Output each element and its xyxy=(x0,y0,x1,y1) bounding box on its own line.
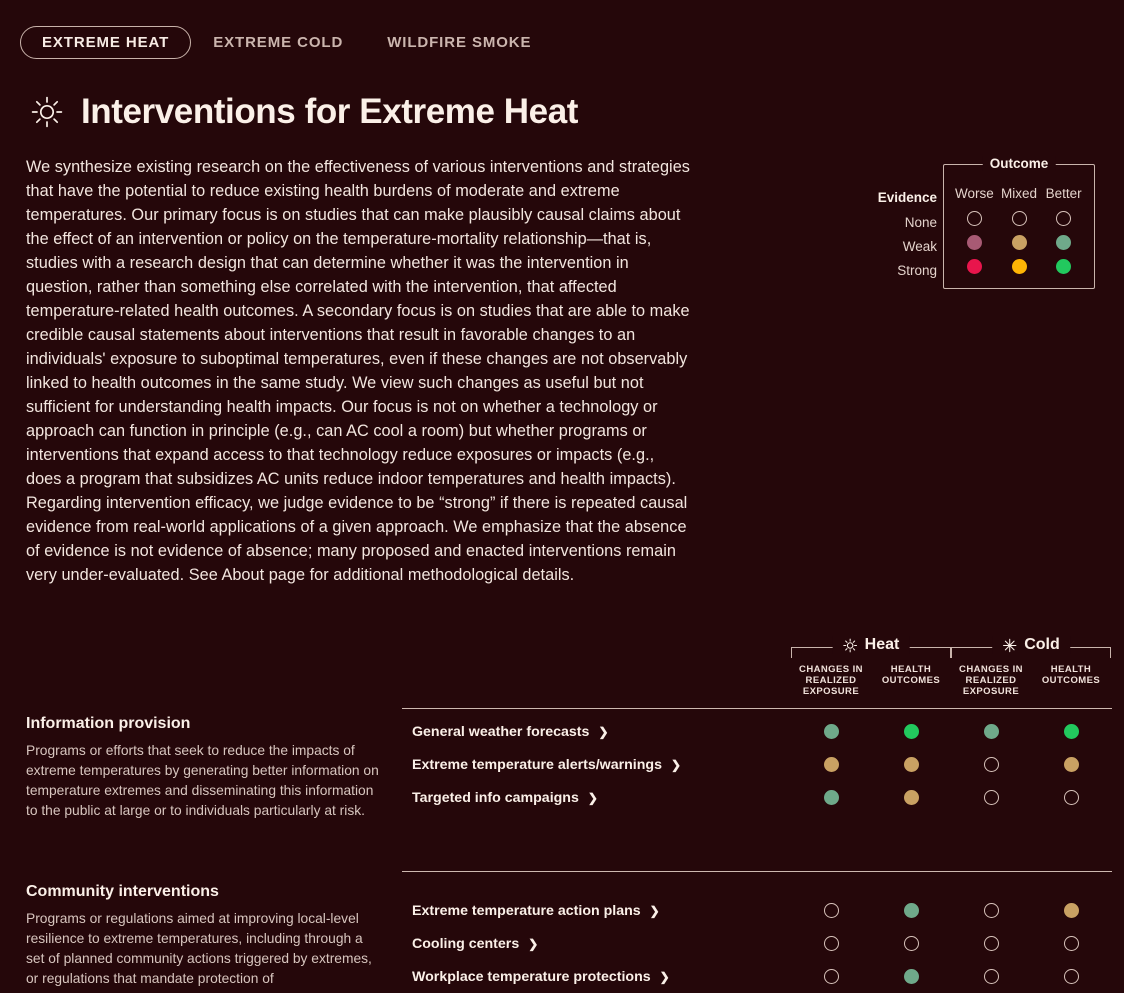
row-label-cooling-centers[interactable]: Cooling centers ❯ xyxy=(412,936,538,952)
status-dot xyxy=(1064,936,1079,951)
cell-heat-exposure[interactable] xyxy=(791,969,871,984)
row-label-text: General weather forecasts xyxy=(412,724,589,740)
legend-row-strong xyxy=(952,254,1086,278)
cell-cold-exposure[interactable] xyxy=(951,724,1031,739)
row-cells xyxy=(791,724,1111,739)
row-cells xyxy=(791,969,1111,984)
status-dot xyxy=(984,903,999,918)
cell-heat-health[interactable] xyxy=(871,936,951,951)
chevron-right-icon: ❯ xyxy=(528,938,538,950)
status-dot xyxy=(1056,211,1071,226)
legend-outcome-axis: Worse Mixed Better xyxy=(952,165,1086,206)
matrix-header-divider xyxy=(402,708,1112,709)
legend-swatch-cell xyxy=(1041,235,1086,250)
cell-heat-exposure[interactable] xyxy=(791,724,871,739)
legend-evidence-axis: Evidence None Weak Strong xyxy=(869,164,937,283)
row-label-text: Workplace temperature protections xyxy=(412,969,651,985)
table-row[interactable]: Cooling centers ❯ xyxy=(402,927,1112,960)
status-dot xyxy=(1012,235,1027,250)
legend-swatch-cell xyxy=(997,211,1042,226)
status-dot xyxy=(904,757,919,772)
legend-outcome-better: Better xyxy=(1041,182,1086,206)
sun-icon xyxy=(30,95,64,129)
row-label-text: Extreme temperature alerts/warnings xyxy=(412,757,662,773)
status-dot xyxy=(824,903,839,918)
cell-cold-health[interactable] xyxy=(1031,724,1111,739)
legend-swatch-cell xyxy=(997,259,1042,274)
group-bracket: Heat xyxy=(791,636,951,658)
status-dot xyxy=(904,724,919,739)
table-row[interactable]: Extreme temperature alerts/warnings ❯ xyxy=(402,748,1112,781)
primary-nav: EXTREME HEAT EXTREME COLD WILDFIRE SMOKE xyxy=(20,26,553,59)
row-label-extreme-temperature-action-plans[interactable]: Extreme temperature action plans ❯ xyxy=(412,903,660,919)
table-row[interactable]: Extreme temperature action plans ❯ xyxy=(402,894,1112,927)
section-community-interventions: Community interventions Programs or regu… xyxy=(0,883,1124,982)
column-header-cold-health: HEALTH OUTCOMES xyxy=(1031,664,1111,697)
legend-row-none xyxy=(952,206,1086,230)
interventions-matrix: Heat CHANGES IN REALIZED EXPOSURE HEALTH… xyxy=(0,630,1124,696)
row-cells xyxy=(791,936,1111,951)
group-columns: CHANGES IN REALIZED EXPOSURE HEALTH OUTC… xyxy=(791,664,951,697)
section-title: Information provision xyxy=(26,715,381,733)
status-dot xyxy=(824,790,839,805)
chevron-right-icon: ❯ xyxy=(588,792,598,804)
status-dot xyxy=(824,969,839,984)
column-header-heat-health: HEALTH OUTCOMES xyxy=(871,664,951,697)
status-dot xyxy=(984,724,999,739)
status-dot xyxy=(824,724,839,739)
chevron-right-icon: ❯ xyxy=(598,726,608,738)
row-label-targeted-info-campaigns[interactable]: Targeted info campaigns ❯ xyxy=(412,790,598,806)
cell-heat-exposure[interactable] xyxy=(791,936,871,951)
intro-paragraph: We synthesize existing research on the e… xyxy=(26,155,691,587)
row-cells xyxy=(791,903,1111,918)
section-rows: Extreme temperature action plans ❯ Cooli… xyxy=(402,894,1112,993)
row-cells xyxy=(791,757,1111,772)
page-header: Interventions for Extreme Heat xyxy=(30,92,578,132)
status-dot xyxy=(904,969,919,984)
cell-cold-health[interactable] xyxy=(1031,757,1111,772)
group-label: Cold xyxy=(1024,636,1060,654)
bracket-end-right xyxy=(1110,647,1111,658)
status-dot xyxy=(1012,211,1027,226)
matrix-group-cold: Cold CHANGES IN REALIZED EXPOSURE HEALTH… xyxy=(951,636,1111,697)
status-dot xyxy=(984,790,999,805)
group-name-heat: Heat xyxy=(833,636,910,654)
bracket-end-left xyxy=(791,647,792,658)
legend-outcome-box: Outcome Worse Mixed Better xyxy=(943,164,1095,289)
row-cells xyxy=(791,790,1111,805)
matrix-group-headers: Heat CHANGES IN REALIZED EXPOSURE HEALTH… xyxy=(0,630,1124,696)
legend-swatch-cell xyxy=(1041,259,1086,274)
cell-cold-exposure[interactable] xyxy=(951,936,1031,951)
row-label-extreme-temperature-alerts-warnings[interactable]: Extreme temperature alerts/warnings ❯ xyxy=(412,757,681,773)
legend-swatch-cell xyxy=(997,235,1042,250)
table-row[interactable]: Targeted info campaigns ❯ xyxy=(402,781,1112,814)
status-dot xyxy=(1064,724,1079,739)
section-title: Community interventions xyxy=(26,883,381,901)
legend-row-weak xyxy=(952,230,1086,254)
section-description: Programs or efforts that seek to reduce … xyxy=(26,741,381,821)
legend-outcome-mixed: Mixed xyxy=(997,182,1042,206)
nav-tab-wildfire-smoke[interactable]: WILDFIRE SMOKE xyxy=(365,26,553,59)
status-dot xyxy=(1064,969,1079,984)
cell-heat-health[interactable] xyxy=(871,724,951,739)
status-dot xyxy=(1064,757,1079,772)
snowflake-icon xyxy=(1002,638,1017,653)
status-dot xyxy=(904,936,919,951)
column-header-cold-exposure: CHANGES IN REALIZED EXPOSURE xyxy=(951,664,1031,697)
cell-heat-exposure[interactable] xyxy=(791,903,871,918)
cell-cold-health[interactable] xyxy=(1031,903,1111,918)
status-dot xyxy=(1056,235,1071,250)
matrix-section-divider xyxy=(402,871,1112,872)
legend-evidence-title: Evidence xyxy=(869,186,937,210)
nav-tab-extreme-heat[interactable]: EXTREME HEAT xyxy=(20,26,191,59)
legend-evidence-none: None xyxy=(869,211,937,235)
status-dot xyxy=(1056,259,1071,274)
group-columns: CHANGES IN REALIZED EXPOSURE HEALTH OUTC… xyxy=(951,664,1111,697)
legend-swatch-cell xyxy=(1041,211,1086,226)
legend-evidence-strong: Strong xyxy=(869,259,937,283)
group-label: Heat xyxy=(865,636,900,654)
status-dot xyxy=(967,211,982,226)
status-dot xyxy=(967,235,982,250)
row-label-text: Targeted info campaigns xyxy=(412,790,579,806)
status-dot xyxy=(824,757,839,772)
cell-heat-health[interactable] xyxy=(871,790,951,805)
section-description-block: Information provision Programs or effort… xyxy=(26,715,381,821)
status-dot xyxy=(1064,790,1079,805)
legend-outcome-title: Outcome xyxy=(983,156,1056,171)
chevron-right-icon: ❯ xyxy=(660,971,670,983)
legend-outcome-worse: Worse xyxy=(952,182,997,206)
column-header-heat-exposure: CHANGES IN REALIZED EXPOSURE xyxy=(791,664,871,697)
row-label-workplace-temperature-protections[interactable]: Workplace temperature protections ❯ xyxy=(412,969,670,985)
status-dot xyxy=(984,757,999,772)
legend-swatch-cell xyxy=(952,235,997,250)
row-label-general-weather-forecasts[interactable]: General weather forecasts ❯ xyxy=(412,724,609,740)
section-description: Programs or regulations aimed at improvi… xyxy=(26,909,381,989)
cell-heat-health[interactable] xyxy=(871,757,951,772)
cell-heat-exposure[interactable] xyxy=(791,790,871,805)
sun-icon xyxy=(843,638,858,653)
chevron-right-icon: ❯ xyxy=(650,905,660,917)
bracket-end-left xyxy=(951,647,952,658)
cell-cold-exposure[interactable] xyxy=(951,903,1031,918)
group-name-cold: Cold xyxy=(992,636,1070,654)
cell-heat-exposure[interactable] xyxy=(791,757,871,772)
page-title: Interventions for Extreme Heat xyxy=(81,92,578,132)
cell-heat-health[interactable] xyxy=(871,969,951,984)
cell-cold-exposure[interactable] xyxy=(951,757,1031,772)
status-dot xyxy=(984,969,999,984)
row-label-text: Extreme temperature action plans xyxy=(412,903,641,919)
status-dot xyxy=(984,936,999,951)
group-bracket: Cold xyxy=(951,636,1111,658)
cell-cold-health[interactable] xyxy=(1031,969,1111,984)
status-dot xyxy=(967,259,982,274)
cell-cold-exposure[interactable] xyxy=(951,790,1031,805)
status-dot xyxy=(824,936,839,951)
cell-heat-health[interactable] xyxy=(871,903,951,918)
nav-tab-extreme-cold[interactable]: EXTREME COLD xyxy=(191,26,365,59)
status-dot xyxy=(904,903,919,918)
table-row[interactable]: Workplace temperature protections ❯ xyxy=(402,960,1112,993)
status-dot xyxy=(1012,259,1027,274)
matrix-group-heat: Heat CHANGES IN REALIZED EXPOSURE HEALTH… xyxy=(791,636,951,697)
cell-cold-health[interactable] xyxy=(1031,790,1111,805)
chevron-right-icon: ❯ xyxy=(671,759,681,771)
cell-cold-health[interactable] xyxy=(1031,936,1111,951)
status-dot xyxy=(904,790,919,805)
legend: Evidence None Weak Strong Outcome Worse … xyxy=(869,164,1095,289)
section-description-block: Community interventions Programs or regu… xyxy=(26,883,381,989)
section-rows: General weather forecasts ❯ Extreme temp… xyxy=(402,715,1112,814)
status-dot xyxy=(1064,903,1079,918)
row-label-text: Cooling centers xyxy=(412,936,519,952)
table-row[interactable]: General weather forecasts ❯ xyxy=(402,715,1112,748)
legend-swatch-cell xyxy=(952,259,997,274)
cell-cold-exposure[interactable] xyxy=(951,969,1031,984)
legend-evidence-weak: Weak xyxy=(869,235,937,259)
legend-swatch-cell xyxy=(952,211,997,226)
